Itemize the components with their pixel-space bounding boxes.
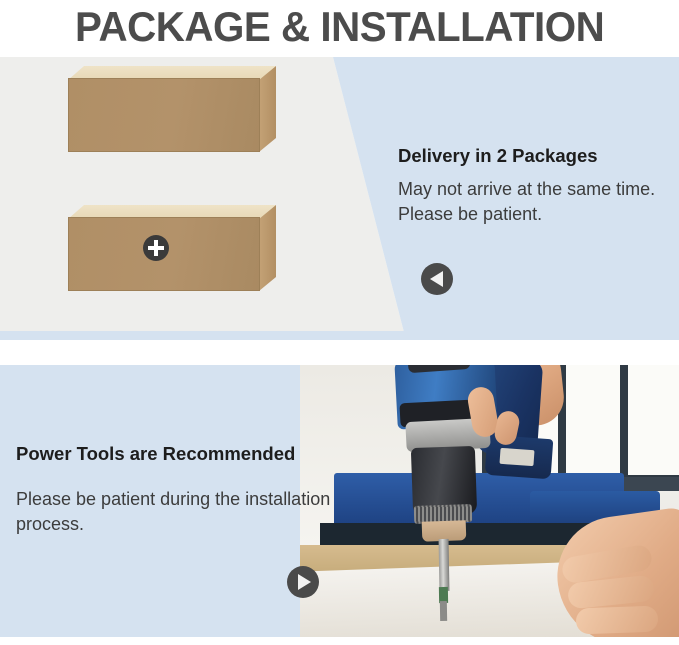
photo-window-pane [566, 365, 620, 475]
arrow-left-triangle [430, 271, 443, 287]
plus-icon-vertical-bar [154, 240, 158, 256]
arrow-right-triangle [298, 574, 311, 590]
arrow-left-icon [421, 263, 453, 295]
photo-finger [576, 606, 659, 635]
box-front-face [68, 78, 260, 152]
drill-photo-inner [300, 365, 679, 637]
box-side-face [259, 66, 276, 152]
package-box-upper [68, 66, 276, 152]
package-boxes-graphic [0, 57, 330, 340]
package-box-lower [68, 205, 276, 291]
page-title-bar: PACKAGE & INSTALLATION [0, 0, 679, 54]
delivery-heading: Delivery in 2 Packages [398, 145, 676, 167]
delivery-text-block: Delivery in 2 Packages May not arrive at… [398, 145, 676, 227]
page-title: PACKAGE & INSTALLATION [75, 6, 604, 48]
power-tools-text-block: Power Tools are Recommended Please be pa… [16, 443, 346, 537]
power-tools-heading: Power Tools are Recommended [16, 443, 346, 465]
plus-icon [143, 235, 169, 261]
power-tools-body: Please be patient during the installatio… [16, 487, 346, 537]
box-side-face [259, 205, 276, 291]
power-tools-section: Power Tools are Recommended Please be pa… [0, 365, 679, 637]
arrow-right-icon [287, 566, 319, 598]
photo-drill-bit-shaft [439, 539, 450, 591]
delivery-body: May not arrive at the same time. Please … [398, 177, 676, 227]
photo-drill-bit-tip [440, 601, 447, 621]
photo-window-pane [628, 365, 679, 475]
photo-drill-battery-label [499, 448, 534, 466]
